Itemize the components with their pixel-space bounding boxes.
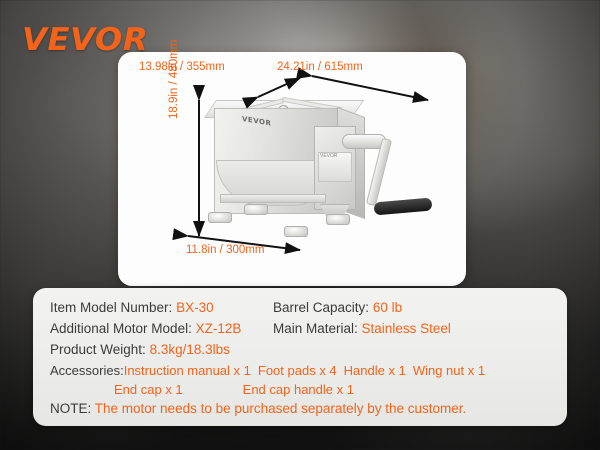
spec-capacity: Barrel Capacity: 60 lb [273, 300, 402, 315]
spec-model: Item Model Number: BX-30 [50, 300, 214, 315]
spec-material-value: Stainless Steel [362, 321, 451, 336]
infographic-canvas: VEVOR VEVOR VEVOR [0, 0, 600, 450]
specification-panel: Item Model Number: BX-30 Additional Moto… [33, 288, 567, 426]
accessory-item: Wing nut x 1 [413, 363, 485, 378]
accessory-item: Instruction manual x 1 [124, 363, 251, 378]
spec-capacity-label: Barrel Capacity: [273, 300, 369, 315]
spec-material: Main Material: Stainless Steel [273, 321, 451, 336]
accessories-line-1: Accessories:Instruction manual x 1Foot p… [50, 363, 485, 378]
spec-model-value: BX-30 [176, 300, 214, 315]
accessories-line-2: End cap x 1End cap handle x 1 [114, 382, 354, 397]
spec-capacity-value: 60 lb [373, 300, 402, 315]
foot-pad [326, 214, 350, 225]
spec-model-label: Item Model Number: [50, 300, 172, 315]
dimension-label-width: 24.21in / 615mm [277, 61, 363, 73]
spec-material-label: Main Material: [273, 321, 358, 336]
dimension-label-base: 11.8in / 300mm [186, 244, 264, 256]
accessory-item: Foot pads x 4 [258, 363, 337, 378]
spec-weight: Product Weight: 8.3kg/18.3lbs [50, 342, 230, 357]
dimension-label-height: 18.9in / 480mm [168, 40, 180, 119]
accessories-label: Accessories: [50, 363, 124, 378]
dimension-label-depth: 13.98in / 355mm [139, 61, 225, 73]
spec-weight-value: 8.3kg/18.3lbs [150, 342, 230, 357]
foot-pad [284, 226, 308, 237]
spec-weight-label: Product Weight: [50, 342, 146, 357]
spec-motor: Additional Motor Model: XZ-12B [50, 321, 241, 336]
foot-pad [244, 204, 268, 215]
accessory-item: Handle x 1 [344, 363, 406, 378]
spec-motor-value: XZ-12B [196, 321, 242, 336]
accessory-item: End cap handle x 1 [243, 382, 354, 397]
product-spec-plate: VEVOR [318, 152, 352, 182]
note-text: The motor needs to be purchased separate… [95, 401, 466, 416]
note-row: NOTE: The motor needs to be purchased se… [50, 401, 466, 416]
note-label: NOTE: [50, 401, 91, 416]
product-illustration: VEVOR VEVOR [196, 86, 440, 258]
accessory-item: End cap x 1 [114, 382, 183, 397]
spec-motor-label: Additional Motor Model: [50, 321, 192, 336]
crank-handle-grip [374, 197, 433, 215]
foot-pad [208, 212, 232, 223]
support-crossbar [220, 194, 326, 203]
